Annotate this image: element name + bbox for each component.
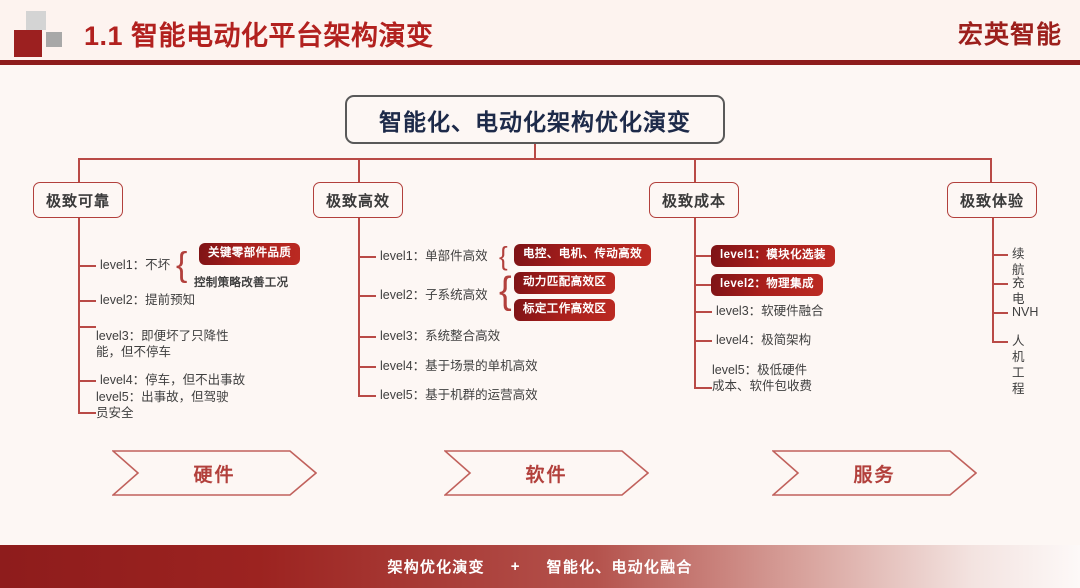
tick-x4 xyxy=(992,341,1008,343)
header-divider xyxy=(0,60,1080,65)
trunk-cost xyxy=(694,238,696,388)
footer-left-text: 架构优化演变 xyxy=(388,556,485,577)
tick-r3 xyxy=(78,326,96,328)
category-box-experience[interactable]: 极致体验 xyxy=(947,182,1037,218)
slide-header: 1.1 智能电动化平台架构演变 宏英智能 xyxy=(0,0,1080,62)
tick-e5 xyxy=(358,395,376,397)
root-node-label: 智能化、电动化架构优化演变 xyxy=(379,103,691,137)
brace-e2-icon: { xyxy=(499,272,512,310)
connector-stem-1 xyxy=(78,218,80,238)
badge-e2-b: 标定工作高效区 xyxy=(514,299,615,321)
trunk-efficiency xyxy=(358,238,360,396)
chevron-label-software: 软件 xyxy=(525,460,567,487)
level-item-c3: level3：软硬件融合 xyxy=(716,303,896,319)
brace-e1-icon: { xyxy=(499,243,508,269)
tick-c1 xyxy=(694,255,712,257)
footer-plus-sign: + xyxy=(511,558,521,575)
chevron-software[interactable]: 软件 xyxy=(444,450,649,496)
tick-e4 xyxy=(358,366,376,368)
connector-drop-3 xyxy=(694,158,696,182)
level-item-r5: level5：出事故，但驾驶 员安全 xyxy=(96,389,266,421)
category-label-experience: 极致体验 xyxy=(960,190,1024,211)
badge-c2: level2：物理集成 xyxy=(711,274,823,296)
level-item-x2: 充电 xyxy=(1012,275,1025,307)
chevron-label-hardware: 硬件 xyxy=(193,460,235,487)
page-title: 1.1 智能电动化平台架构演变 xyxy=(84,14,434,53)
logo-square-gray-icon xyxy=(46,32,62,47)
level-item-c4: level4：极简架构 xyxy=(716,332,896,348)
category-label-reliability: 极致可靠 xyxy=(46,190,110,211)
slide-footer: 架构优化演变 + 智能化、电动化融合 xyxy=(0,545,1080,588)
tick-c3 xyxy=(694,311,712,313)
tick-c2 xyxy=(694,284,712,286)
level-item-x1: 续航 xyxy=(1012,246,1025,278)
connector-drop-1 xyxy=(78,158,80,182)
tick-c4 xyxy=(694,340,712,342)
connector-stem-3 xyxy=(694,218,696,238)
chevron-hardware[interactable]: 硬件 xyxy=(112,450,317,496)
footer-right-text: 智能化、电动化融合 xyxy=(547,556,693,577)
badge-e2-a: 动力匹配高效区 xyxy=(514,272,615,294)
connector-stem-2 xyxy=(358,218,360,238)
category-box-reliability[interactable]: 极致可靠 xyxy=(33,182,123,218)
level-item-e4: level4：基于场景的单机高效 xyxy=(380,358,600,374)
tick-c5 xyxy=(694,387,712,389)
category-box-efficiency[interactable]: 极致高效 xyxy=(313,182,403,218)
tick-r1 xyxy=(78,265,96,267)
badge-c1: level1：模块化选装 xyxy=(711,245,835,267)
category-box-cost[interactable]: 极致成本 xyxy=(649,182,739,218)
category-label-efficiency: 极致高效 xyxy=(326,190,390,211)
connector-root-stem xyxy=(534,144,536,159)
note-r1-b: 控制策略改善工况 xyxy=(194,274,288,290)
badge-r1-a: 关键零部件品质 xyxy=(199,243,300,265)
slide-canvas: 1.1 智能电动化平台架构演变 宏英智能 智能化、电动化架构优化演变 极致可靠 … xyxy=(0,0,1080,588)
tick-x2 xyxy=(992,283,1008,285)
level-item-e3: level3：系统整合高效 xyxy=(380,328,580,344)
tick-e2 xyxy=(358,295,376,297)
tick-x3 xyxy=(992,312,1008,314)
level-item-c5: level5：极低硬件 成本、软件包收费 xyxy=(712,362,892,394)
root-node-box: 智能化、电动化架构优化演变 xyxy=(345,95,725,144)
connector-drop-2 xyxy=(358,158,360,182)
level-item-r3: level3：即便坏了只降性 能，但不停车 xyxy=(96,328,256,360)
connector-stem-4 xyxy=(992,218,994,238)
level-item-x4: 人机工程 xyxy=(1012,333,1025,397)
chevron-label-service: 服务 xyxy=(853,460,895,487)
level-item-e5: level5：基于机群的运营高效 xyxy=(380,387,600,403)
tick-r5 xyxy=(78,412,96,414)
tick-e3 xyxy=(358,336,376,338)
tick-e1 xyxy=(358,256,376,258)
tick-r4 xyxy=(78,380,96,382)
logo-square-light-icon xyxy=(26,11,46,30)
badge-e1-a: 电控、电机、传动高效 xyxy=(514,244,651,266)
connector-bus xyxy=(78,158,990,160)
level-item-r2: level2：提前预知 xyxy=(100,292,280,308)
chevron-service[interactable]: 服务 xyxy=(772,450,977,496)
brand-logo-text: 宏英智能 xyxy=(958,15,1062,51)
connector-drop-4 xyxy=(990,158,992,182)
brace-r1-icon: { xyxy=(176,248,187,282)
tick-x1 xyxy=(992,254,1008,256)
category-label-cost: 极致成本 xyxy=(662,190,726,211)
logo-square-red-icon xyxy=(14,30,42,57)
tick-r2 xyxy=(78,300,96,302)
level-item-x3: NVH xyxy=(1012,304,1038,320)
level-item-r4: level4：停车，但不出事故 xyxy=(100,372,290,388)
